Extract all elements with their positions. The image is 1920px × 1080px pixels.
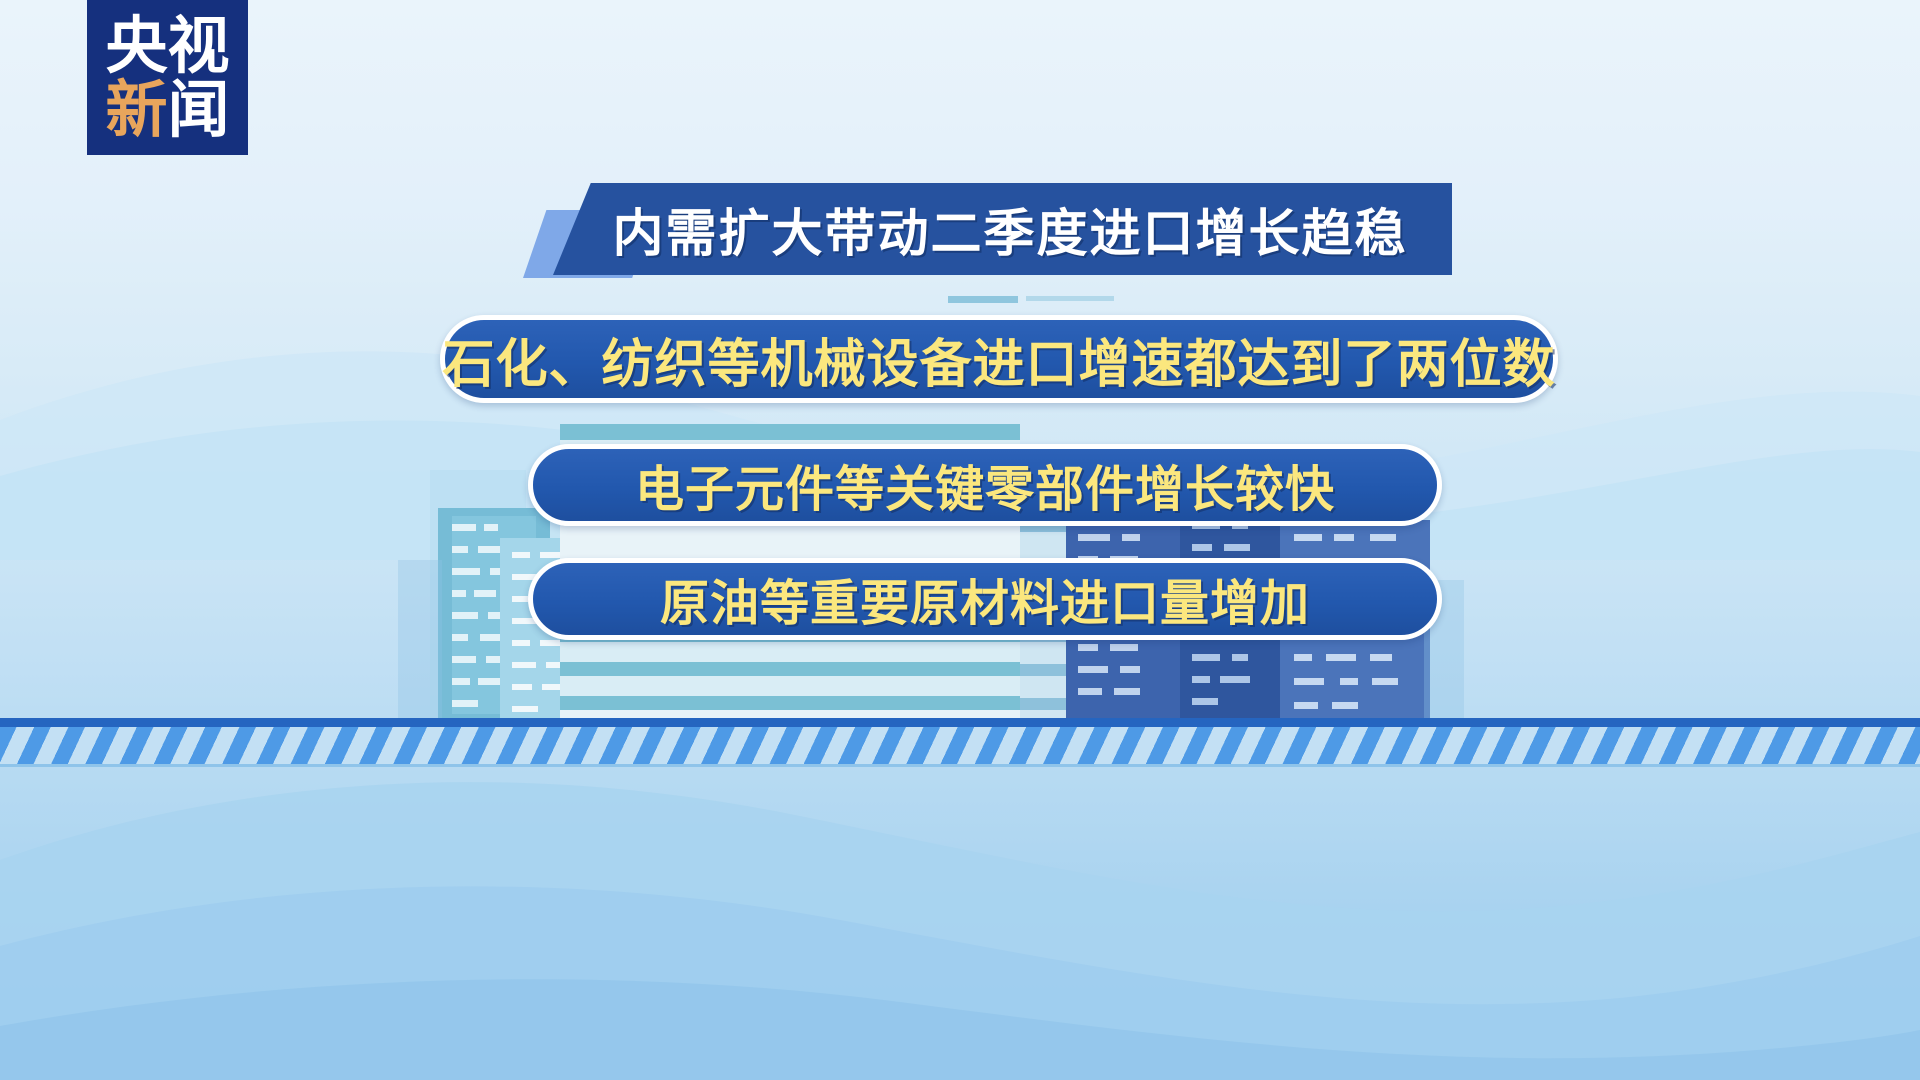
logo-char-wen: 闻 <box>168 79 230 141</box>
highlight-pill-3[interactable]: 原油等重要原材料进口量增加 <box>528 558 1442 640</box>
stripe-band-bottom-border <box>0 764 1920 767</box>
city-skyline-illustration <box>0 0 1920 1080</box>
logo-line-two: 新 闻 <box>105 79 229 141</box>
stripe-band-top-border <box>0 718 1920 727</box>
banner-tick-1 <box>948 296 1018 303</box>
cctv-news-logo[interactable]: 央 视 新 闻 <box>87 0 248 155</box>
highlight-pill-1-label: 石化、纺织等机械设备进口增速都达到了两位数 <box>443 322 1556 397</box>
logo-char-xin: 新 <box>105 79 167 141</box>
highlight-pill-3-label: 原油等重要原材料进口量增加 <box>660 564 1310 635</box>
page-title: 内需扩大带动二季度进口增长趋稳 <box>600 183 1420 275</box>
infographic-stage: 央 视 新 闻 内需扩大带动二季度进口增长趋稳 石化、纺织等机械设备进口增速都达… <box>0 0 1920 1080</box>
diagonal-stripe-band <box>0 718 1920 766</box>
stripe-band-pattern <box>0 727 1920 766</box>
headline-banner-group: 内需扩大带动二季度进口增长趋稳 <box>0 175 1920 285</box>
logo-char-yang: 央 <box>105 15 167 77</box>
logo-char-shi: 视 <box>168 15 230 77</box>
highlight-pill-1[interactable]: 石化、纺织等机械设备进口增速都达到了两位数 <box>440 315 1558 403</box>
logo-line-one: 央 视 <box>105 15 229 77</box>
highlight-pill-2[interactable]: 电子元件等关键零部件增长较快 <box>528 444 1442 526</box>
banner-tick-2 <box>1026 296 1114 301</box>
highlight-pill-2-label: 电子元件等关键零部件增长较快 <box>635 450 1335 521</box>
